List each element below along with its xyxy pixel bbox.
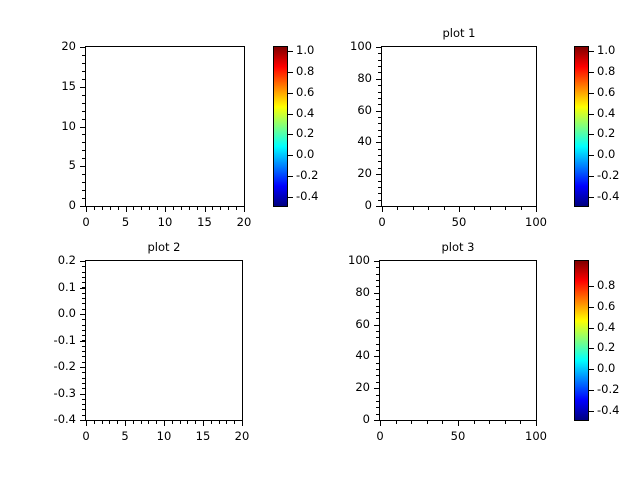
plot2-xtick-label: 20 <box>217 429 267 443</box>
plot0-cbar-tick-label: 0.8 <box>296 64 314 78</box>
tick-mark <box>378 142 381 143</box>
tick-mark <box>288 93 293 94</box>
tick-mark <box>82 166 85 167</box>
tick-mark <box>164 421 165 424</box>
tick-mark <box>82 309 85 310</box>
tick-mark <box>82 272 85 273</box>
plot1-cbar-tick-label: 0.0 <box>597 147 615 161</box>
plot2-title: plot 2 <box>104 240 224 254</box>
tick-mark <box>82 383 85 384</box>
tick-mark <box>378 47 381 48</box>
tick-mark <box>82 351 85 352</box>
tick-mark <box>288 134 293 135</box>
plot1-ytick-label: 100 <box>326 39 372 53</box>
plot1-ytick-label: 80 <box>326 71 372 85</box>
tick-mark <box>86 421 87 424</box>
tick-mark <box>589 390 594 391</box>
tick-mark <box>589 72 594 73</box>
tick-mark <box>102 207 103 210</box>
tick-mark <box>376 318 379 319</box>
tick-mark <box>396 421 397 424</box>
tick-mark <box>82 388 85 389</box>
tick-mark <box>444 207 445 210</box>
tick-mark <box>173 207 174 210</box>
tick-mark <box>378 168 381 169</box>
plot2-ytick-label: 0.0 <box>30 306 76 320</box>
plot1-cbar-tick-label: 0.2 <box>597 126 615 140</box>
tick-mark <box>197 207 198 210</box>
plot0-cbar-tick-label: 0.4 <box>296 106 314 120</box>
plot3-cbar-tick-label: 0.2 <box>597 340 615 354</box>
tick-mark <box>442 421 443 424</box>
plot0-ytick-label: 15 <box>30 79 76 93</box>
plot3-cbar-tick-label: -0.4 <box>597 403 619 417</box>
tick-mark <box>376 344 379 345</box>
plot0-cbar-tick-label: 0.6 <box>296 85 314 99</box>
plot3-cbar-tick-label: 0.4 <box>597 320 615 334</box>
tick-mark <box>82 293 85 294</box>
tick-mark <box>378 123 381 124</box>
plot0-cbar-tick-label: -0.2 <box>296 168 318 182</box>
tick-mark <box>459 207 460 210</box>
tick-mark <box>376 401 379 402</box>
plot3-title: plot 3 <box>398 240 518 254</box>
tick-mark <box>411 421 412 424</box>
plot3-cbar-tick-label: 0.0 <box>597 361 615 375</box>
tick-mark <box>397 207 398 210</box>
plot1-xtick-label: 0 <box>357 215 407 229</box>
tick-mark <box>378 193 381 194</box>
tick-mark <box>226 421 227 424</box>
plot1-title: plot 1 <box>399 26 519 40</box>
plot3-cbar-tick-label: 0.6 <box>597 299 615 313</box>
tick-mark <box>536 207 537 210</box>
tick-mark <box>82 55 85 56</box>
plot3-ytick-label: 100 <box>324 253 370 267</box>
tick-mark <box>219 421 220 424</box>
plot2-ytick-label: -0.4 <box>30 412 76 426</box>
tick-mark <box>102 421 103 424</box>
tick-mark <box>82 319 85 320</box>
tick-mark <box>172 421 173 424</box>
tick-mark <box>376 420 379 421</box>
tick-mark <box>378 149 381 150</box>
tick-mark <box>376 280 379 281</box>
tick-mark <box>189 207 190 210</box>
plot0-ytick-label: 0 <box>30 198 76 212</box>
tick-mark <box>82 314 85 315</box>
tick-mark <box>82 367 85 368</box>
tick-mark <box>428 207 429 210</box>
tick-mark <box>378 181 381 182</box>
tick-mark <box>82 420 85 421</box>
tick-mark <box>82 95 85 96</box>
tick-mark <box>376 407 379 408</box>
tick-mark <box>157 207 158 210</box>
plot0-colorbar-gradient <box>274 47 287 206</box>
tick-mark <box>589 134 594 135</box>
tick-mark <box>244 207 245 210</box>
tick-mark <box>382 207 383 210</box>
tick-mark <box>589 155 594 156</box>
tick-mark <box>82 150 85 151</box>
tick-mark <box>589 328 594 329</box>
tick-mark <box>589 307 594 308</box>
plot0-axes-frame <box>85 46 245 207</box>
tick-mark <box>82 190 85 191</box>
tick-mark <box>474 421 475 424</box>
tick-mark <box>536 421 537 424</box>
tick-mark <box>288 155 293 156</box>
tick-mark <box>378 155 381 156</box>
tick-mark <box>378 136 381 137</box>
plot1-cbar-tick-label: 0.8 <box>597 64 615 78</box>
tick-mark <box>187 421 188 424</box>
tick-mark <box>228 207 229 210</box>
tick-mark <box>82 362 85 363</box>
plot1-cbar-tick-label: -0.2 <box>597 168 619 182</box>
plot3-ytick-label: 40 <box>324 348 370 362</box>
tick-mark <box>86 207 87 210</box>
tick-mark <box>288 72 293 73</box>
tick-mark <box>376 331 379 332</box>
tick-mark <box>109 421 110 424</box>
plot2-ytick-label: -0.3 <box>30 386 76 400</box>
tick-mark <box>82 330 85 331</box>
tick-mark <box>82 378 85 379</box>
plot3-ytick-label: 20 <box>324 380 370 394</box>
plot0-cbar-tick-label: 0.0 <box>296 147 314 161</box>
tick-mark <box>156 421 157 424</box>
plot3-xtick-label: 0 <box>355 429 405 443</box>
tick-mark <box>212 207 213 210</box>
plot3-ytick-label: 60 <box>324 317 370 331</box>
tick-mark <box>378 85 381 86</box>
plot1-cbar-tick-label: 1.0 <box>597 43 615 57</box>
plot0-cbar-tick-label: -0.4 <box>296 189 318 203</box>
tick-mark <box>82 79 85 80</box>
plot3-cbar-tick-label: 0.8 <box>597 278 615 292</box>
tick-mark <box>376 261 379 262</box>
tick-mark <box>378 66 381 67</box>
tick-mark <box>82 103 85 104</box>
tick-mark <box>288 197 293 198</box>
tick-mark <box>378 60 381 61</box>
plot2-ytick-label: -0.1 <box>30 333 76 347</box>
tick-mark <box>376 388 379 389</box>
tick-mark <box>378 53 381 54</box>
plot3-axes-frame <box>379 260 537 421</box>
tick-mark <box>378 206 381 207</box>
tick-mark <box>376 267 379 268</box>
plot1-xtick-label: 100 <box>511 215 561 229</box>
tick-mark <box>82 198 85 199</box>
tick-mark <box>490 207 491 210</box>
tick-mark <box>181 207 182 210</box>
tick-mark <box>589 411 594 412</box>
tick-mark <box>589 176 594 177</box>
tick-mark <box>589 369 594 370</box>
tick-mark <box>82 346 85 347</box>
tick-mark <box>378 161 381 162</box>
tick-mark <box>82 119 85 120</box>
tick-mark <box>82 409 85 410</box>
tick-mark <box>378 92 381 93</box>
tick-mark <box>413 207 414 210</box>
tick-mark <box>234 421 235 424</box>
tick-mark <box>82 394 85 395</box>
tick-mark <box>82 182 85 183</box>
tick-mark <box>82 404 85 405</box>
plot0-ytick-label: 20 <box>30 39 76 53</box>
tick-mark <box>205 207 206 210</box>
plot3-cbar-tick-label: -0.2 <box>597 382 619 396</box>
tick-mark <box>220 207 221 210</box>
tick-mark <box>195 421 196 424</box>
tick-mark <box>378 98 381 99</box>
tick-mark <box>589 286 594 287</box>
plot0-ytick-label: 5 <box>30 158 76 172</box>
tick-mark <box>110 207 111 210</box>
tick-mark <box>82 134 85 135</box>
tick-mark <box>427 421 428 424</box>
plot1-cbar-tick-label: -0.4 <box>597 189 619 203</box>
plot1-ytick-label: 60 <box>326 103 372 117</box>
tick-mark <box>458 421 459 424</box>
tick-mark <box>82 127 85 128</box>
tick-mark <box>376 363 379 364</box>
tick-mark <box>376 325 379 326</box>
plot1-ytick-label: 40 <box>326 134 372 148</box>
tick-mark <box>521 207 522 210</box>
tick-mark <box>80 288 85 289</box>
tick-mark <box>82 287 85 288</box>
tick-mark <box>376 312 379 313</box>
tick-mark <box>82 87 85 88</box>
tick-mark <box>82 111 85 112</box>
tick-mark <box>505 421 506 424</box>
plot1-colorbar <box>574 46 589 207</box>
tick-mark <box>82 415 85 416</box>
plot0-cbar-tick-label: 1.0 <box>296 43 314 57</box>
tick-mark <box>378 117 381 118</box>
tick-mark <box>474 207 475 210</box>
tick-mark <box>82 325 85 326</box>
tick-mark <box>288 114 293 115</box>
tick-mark <box>94 207 95 210</box>
tick-mark <box>82 298 85 299</box>
tick-mark <box>82 277 85 278</box>
tick-mark <box>203 421 204 424</box>
tick-mark <box>82 71 85 72</box>
tick-mark <box>149 207 150 210</box>
tick-mark <box>82 372 85 373</box>
plot1-colorbar-gradient <box>575 47 588 206</box>
tick-mark <box>211 421 212 424</box>
tick-mark <box>82 335 85 336</box>
plot0-colorbar <box>273 46 288 207</box>
tick-mark <box>82 47 85 48</box>
tick-mark <box>118 207 119 210</box>
plot1-ytick-label: 20 <box>326 166 372 180</box>
tick-mark <box>589 51 594 52</box>
tick-mark <box>378 111 381 112</box>
tick-mark <box>94 421 95 424</box>
tick-mark <box>82 356 85 357</box>
tick-mark <box>380 421 381 424</box>
tick-mark <box>117 421 118 424</box>
tick-mark <box>141 207 142 210</box>
tick-mark <box>378 72 381 73</box>
tick-mark <box>180 421 181 424</box>
tick-mark <box>376 293 379 294</box>
tick-mark <box>141 421 142 424</box>
tick-mark <box>133 421 134 424</box>
tick-mark <box>376 350 379 351</box>
plot1-axes-frame <box>381 46 537 207</box>
tick-mark <box>82 206 85 207</box>
tick-mark <box>376 306 379 307</box>
tick-mark <box>82 158 85 159</box>
tick-mark <box>589 197 594 198</box>
tick-mark <box>133 207 134 210</box>
tick-mark <box>376 375 379 376</box>
tick-mark <box>376 414 379 415</box>
tick-mark <box>378 187 381 188</box>
tick-mark <box>589 93 594 94</box>
tick-mark <box>376 299 379 300</box>
tick-mark <box>165 207 166 210</box>
tick-mark <box>376 369 379 370</box>
tick-mark <box>376 337 379 338</box>
plot1-cbar-tick-label: 0.6 <box>597 85 615 99</box>
tick-mark <box>376 286 379 287</box>
tick-mark <box>82 303 85 304</box>
plot3-ytick-label: 80 <box>324 285 370 299</box>
plot3-colorbar-gradient <box>575 261 588 420</box>
tick-mark <box>376 274 379 275</box>
plot1-cbar-tick-label: 0.4 <box>597 106 615 120</box>
figure-canvas: 0510152005101520 -0.4-0.20.00.20.40.60.8… <box>0 0 640 480</box>
tick-mark <box>376 395 379 396</box>
tick-mark <box>80 341 85 342</box>
tick-mark <box>288 176 293 177</box>
tick-mark <box>378 200 381 201</box>
plot3-ytick-label: 0 <box>324 412 370 426</box>
tick-mark <box>378 104 381 105</box>
plot1-xtick-label: 50 <box>434 215 484 229</box>
tick-mark <box>378 174 381 175</box>
tick-mark <box>376 356 379 357</box>
tick-mark <box>82 282 85 283</box>
plot2-ytick-label: 0.1 <box>30 280 76 294</box>
plot3-xtick-label: 50 <box>433 429 483 443</box>
tick-mark <box>288 51 293 52</box>
tick-mark <box>378 79 381 80</box>
plot1-ytick-label: 0 <box>326 198 372 212</box>
tick-mark <box>589 114 594 115</box>
tick-mark <box>82 399 85 400</box>
tick-mark <box>505 207 506 210</box>
tick-mark <box>82 340 85 341</box>
plot2-ytick-label: -0.2 <box>30 359 76 373</box>
plot2-axes-frame <box>85 260 243 421</box>
tick-mark <box>489 421 490 424</box>
plot0-cbar-tick-label: 0.2 <box>296 126 314 140</box>
tick-mark <box>125 421 126 424</box>
plot3-colorbar <box>574 260 589 421</box>
tick-mark <box>376 382 379 383</box>
tick-mark <box>148 421 149 424</box>
tick-mark <box>82 142 85 143</box>
tick-mark <box>82 174 85 175</box>
tick-mark <box>126 207 127 210</box>
plot2-ytick-label: 0.2 <box>30 253 76 267</box>
plot3-xtick-label: 100 <box>511 429 561 443</box>
tick-mark <box>589 348 594 349</box>
tick-mark <box>82 63 85 64</box>
tick-mark <box>82 266 85 267</box>
tick-mark <box>242 421 243 424</box>
tick-mark <box>378 130 381 131</box>
plot0-xtick-label: 20 <box>219 215 269 229</box>
plot0-ytick-label: 10 <box>30 119 76 133</box>
tick-mark <box>236 207 237 210</box>
tick-mark <box>82 261 85 262</box>
tick-mark <box>520 421 521 424</box>
